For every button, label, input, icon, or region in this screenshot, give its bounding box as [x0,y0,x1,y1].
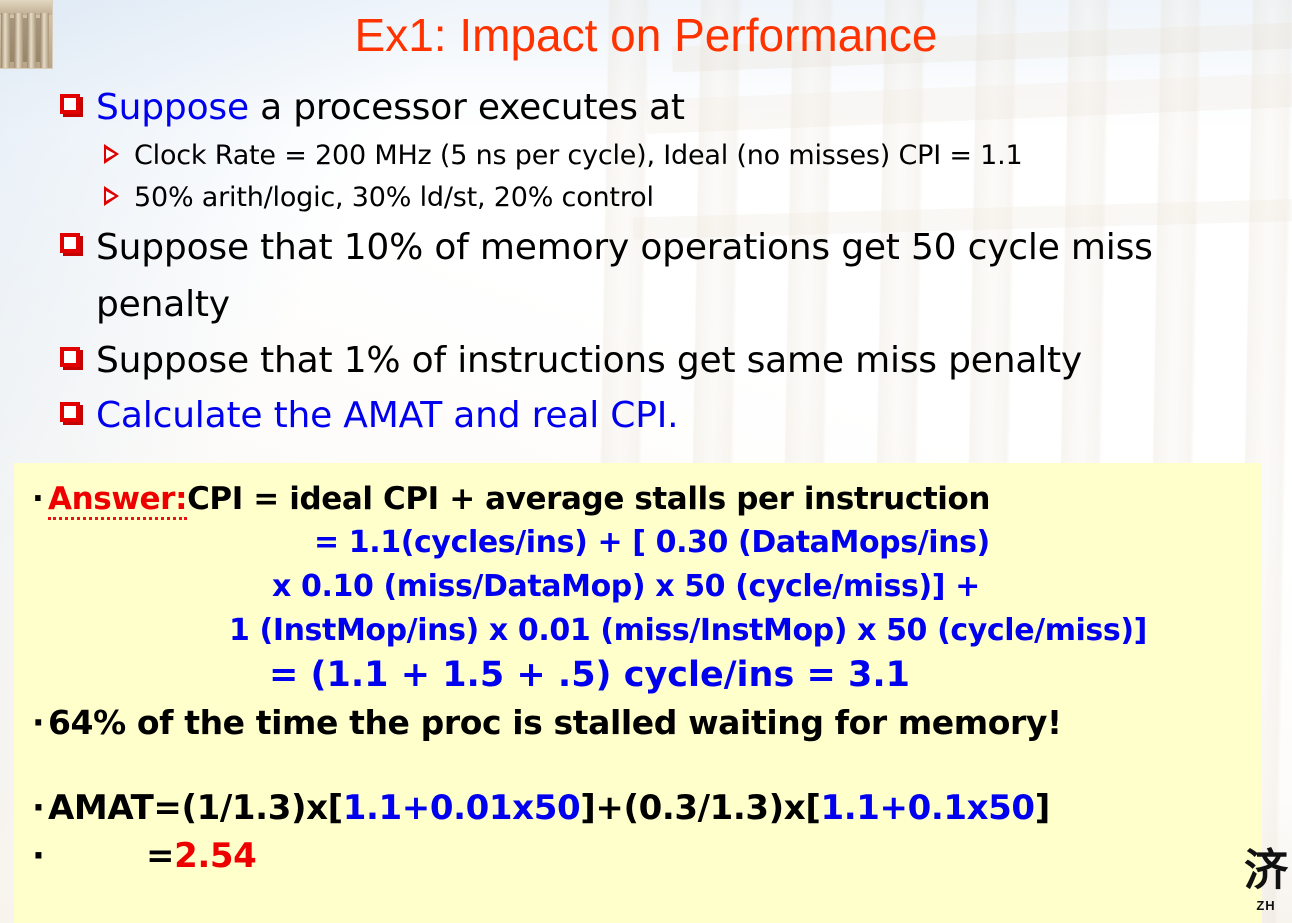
red-square-bullet-icon [60,347,80,367]
answer-line-8: =2.54 [14,833,1262,879]
amat-result-value: 2.54 [174,836,256,876]
amat-suffix: ] [1035,788,1050,828]
answer-line-7: AMAT=(1/1.3)x[1.1+0.01x50]+(0.3/1.3)x[1.… [14,783,1262,833]
amat-mid: ]+(0.3/1.3)x[ [580,788,820,828]
answer-line-5-text: = (1.1 + 1.5 + .5) cycle/ins = 3.1 [269,655,910,695]
bullet-item-3: Suppose that 1% of instructions get same… [60,333,1285,388]
red-square-bullet-icon [60,94,80,114]
answer-line-6-text: 64% of the time the proc is stalled wait… [48,703,1062,742]
bullet-3-text: Suppose that 1% of instructions get same… [96,340,1082,381]
sub-bullet-item-1: Clock Rate = 200 MHz (5 ns per cycle), I… [60,135,1285,177]
bullet-item-1: Suppose a processor executes at [60,80,1285,135]
answer-line-6: 64% of the time the proc is stalled wait… [14,697,1262,749]
answer-line-3: x 0.10 (miss/DataMop) x 50 (cycle/miss)]… [14,565,1262,609]
answer-dot-bullet-icon [26,481,48,517]
red-arrow-bullet-icon [104,144,119,164]
answer-line-5: = (1.1 + 1.5 + .5) cycle/ins = 3.1 [14,653,1262,697]
answer-line-1-rest: CPI = ideal CPI + average stalls per ins… [187,481,990,517]
sub-bullet-1-text: Clock Rate = 200 MHz (5 ns per cycle), I… [134,140,1023,171]
slide-canvas: Ex1: Impact on Performance Suppose a pro… [0,0,1292,923]
red-square-bullet-icon [60,233,80,253]
slide-body: Suppose a processor executes at Clock Ra… [60,80,1285,443]
bullet-1-blue-text: Suppose [96,87,249,128]
sub-bullet-item-2: 50% arith/logic, 30% ld/st, 20% control [60,177,1285,219]
amat-blue-term-2: 1.1+0.1x50 [820,788,1034,828]
answer-line-2-text: = 1.1(cycles/ins) + [ 0.30 (DataMops/ins… [314,525,990,560]
answer-line-3-text: x 0.10 (miss/DataMop) x 50 (cycle/miss)]… [272,569,980,604]
page-title: Ex1: Impact on Performance [0,6,1292,64]
answer-label: Answer: [48,481,187,520]
red-square-bullet-icon [60,402,80,422]
red-arrow-bullet-icon [104,186,119,206]
amat-blue-term-1: 1.1+0.01x50 [343,788,580,828]
bullet-item-4: Calculate the AMAT and real CPI. [60,388,1285,443]
answer-dot-bullet-icon [26,788,48,828]
answer-line-1: Answer:CPI = ideal CPI + average stalls … [14,477,1262,521]
answer-line-4-text: 1 (InstMop/ins) x 0.01 (miss/InstMop) x … [229,613,1147,648]
bullet-2-line-1: Suppose that 10% of memory operations ge… [96,227,1153,268]
bullet-4-text: Calculate the AMAT and real CPI. [96,395,678,436]
answer-dot-bullet-icon [26,703,48,742]
answer-line-4: 1 (InstMop/ins) x 0.01 (miss/InstMop) x … [14,609,1262,653]
amat-prefix: AMAT=(1/1.3)x[ [48,788,343,828]
amat-result-equals: = [146,836,174,876]
answer-dot-bullet-icon [26,836,48,876]
answer-callout-box: Answer:CPI = ideal CPI + average stalls … [14,463,1262,923]
answer-spacer [14,749,1262,783]
answer-line-2: = 1.1(cycles/ins) + [ 0.30 (DataMops/ins… [14,521,1262,565]
sub-bullet-2-text: 50% arith/logic, 30% ld/st, 20% control [134,182,654,213]
bullet-2-line-2: penalty [96,284,230,325]
bullet-item-2: Suppose that 10% of memory operations ge… [60,219,1285,333]
bullet-1-black-text: a processor executes at [249,87,685,128]
